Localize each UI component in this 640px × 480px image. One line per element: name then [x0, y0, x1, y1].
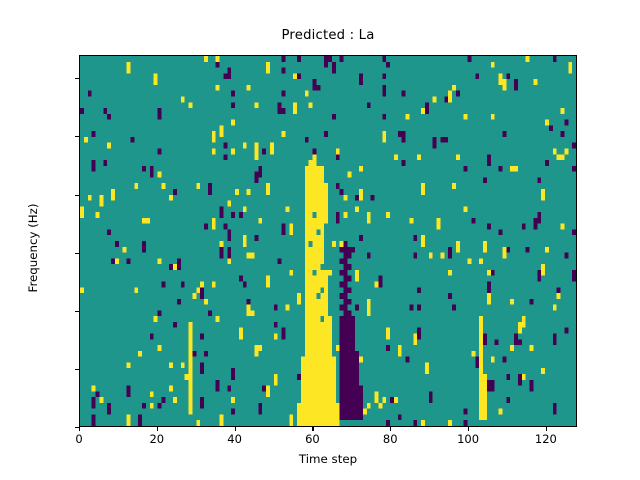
heatmap-image [80, 56, 576, 426]
y-tick-mark [75, 78, 79, 79]
x-tick-mark [312, 427, 313, 431]
y-tick-mark [75, 136, 79, 137]
x-tick-label: 60 [305, 432, 320, 446]
x-tick-label: 20 [149, 432, 164, 446]
x-axis-label: Time step [79, 452, 577, 466]
y-tick-mark [75, 253, 79, 254]
x-tick-label: 100 [457, 432, 479, 446]
plot-area [79, 55, 577, 427]
y-tick-mark [75, 311, 79, 312]
chart-title: Predicted : La [79, 28, 577, 43]
y-tick-mark [75, 369, 79, 370]
x-tick-mark [157, 427, 158, 431]
x-tick-label: 80 [383, 432, 398, 446]
x-tick-mark [79, 427, 80, 431]
x-tick-mark [390, 427, 391, 431]
x-tick-mark [235, 427, 236, 431]
x-tick-mark [468, 427, 469, 431]
x-tick-label: 0 [75, 432, 82, 446]
y-tick-mark [75, 195, 79, 196]
x-tick-mark [546, 427, 547, 431]
y-axis-label: Frequency (Hz) [26, 118, 40, 378]
matplotlib-figure: Predicted : La Frequency (Hz) 0200004000… [0, 0, 640, 480]
x-tick-label: 40 [227, 432, 242, 446]
x-tick-label: 120 [535, 432, 557, 446]
